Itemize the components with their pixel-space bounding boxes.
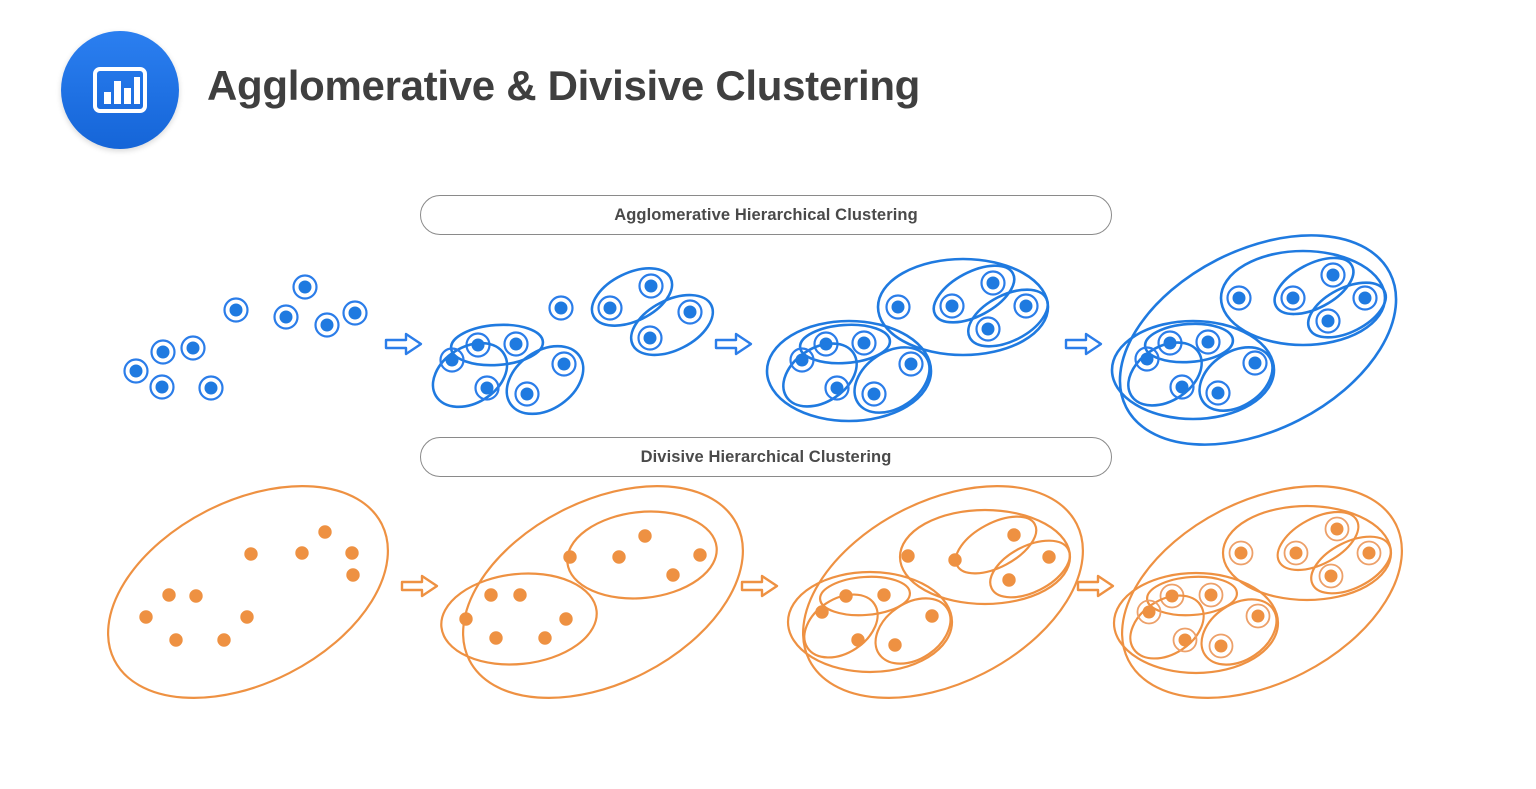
agg-stage-1	[125, 276, 367, 400]
agg-stage-2	[421, 257, 722, 428]
bar-chart-icon	[61, 31, 179, 149]
agg-arrow-2	[716, 334, 751, 354]
div-arrow-3	[1078, 576, 1113, 596]
divisive-row	[0, 495, 1460, 705]
div-stage-3	[768, 443, 1118, 741]
agglomerative-row	[0, 240, 1460, 440]
section-label-divisive-text: Divisive Hierarchical Clustering	[641, 448, 892, 467]
div-stage-4	[1087, 443, 1437, 741]
div-arrow-1	[402, 576, 437, 596]
section-label-agglomerative: Agglomerative Hierarchical Clustering	[420, 195, 1112, 235]
div-arrow-2	[742, 576, 777, 596]
page-title: Agglomerative & Divisive Clustering	[207, 62, 920, 110]
div-stage-1	[73, 443, 423, 741]
agg-stage-4	[1085, 193, 1430, 488]
agg-stage-3	[767, 254, 1057, 426]
div-stage-2	[428, 443, 778, 741]
section-label-agglomerative-text: Agglomerative Hierarchical Clustering	[614, 206, 918, 225]
section-label-divisive: Divisive Hierarchical Clustering	[420, 437, 1112, 477]
header: Agglomerative & Divisive Clustering	[0, 0, 1536, 170]
agg-arrow-1	[386, 334, 421, 354]
agg-arrow-3	[1066, 334, 1101, 354]
diagram-canvas: Agglomerative & Divisive Clustering Aggl…	[0, 0, 1536, 789]
